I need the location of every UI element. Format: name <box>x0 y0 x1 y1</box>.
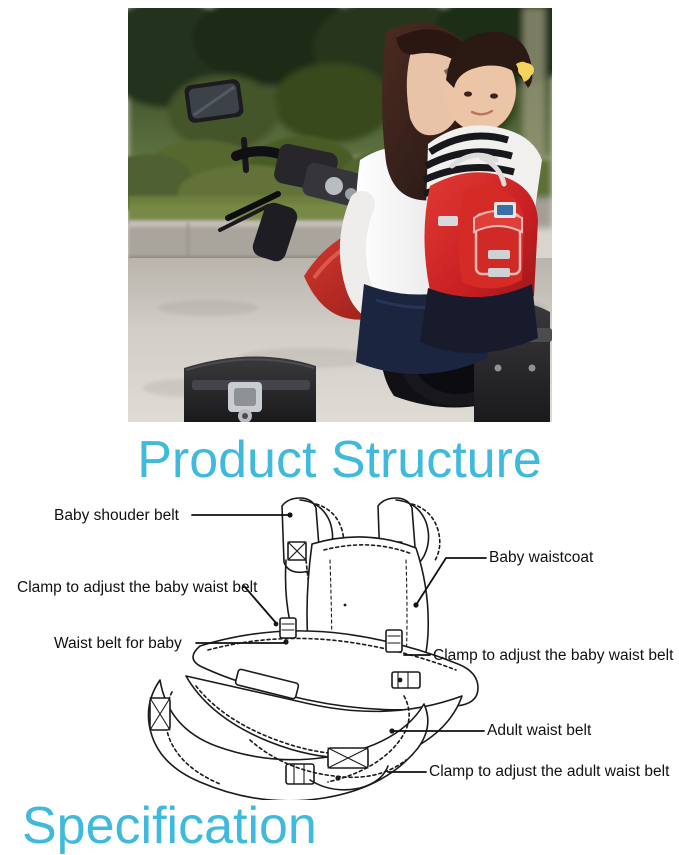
label-baby-shoulder-belt: Baby shouder belt <box>54 508 179 524</box>
label-clamp-baby-waist-belt-right: Clamp to adjust the baby waist belt <box>433 648 673 664</box>
label-clamp-baby-waist-belt-left: Clamp to adjust the baby waist belt <box>17 580 257 596</box>
product-photo-illustration <box>128 8 552 422</box>
page-title-specification: Specification <box>0 800 679 852</box>
label-waist-belt-for-baby: Waist belt for baby <box>54 636 182 652</box>
label-clamp-adult-waist-belt: Clamp to adjust the adult waist belt <box>429 764 669 780</box>
page-title-product-structure: Product Structure <box>0 434 679 486</box>
product-photo <box>128 8 552 422</box>
label-adult-waist-belt: Adult waist belt <box>487 723 591 739</box>
label-baby-waistcoat: Baby waistcoat <box>489 550 593 566</box>
